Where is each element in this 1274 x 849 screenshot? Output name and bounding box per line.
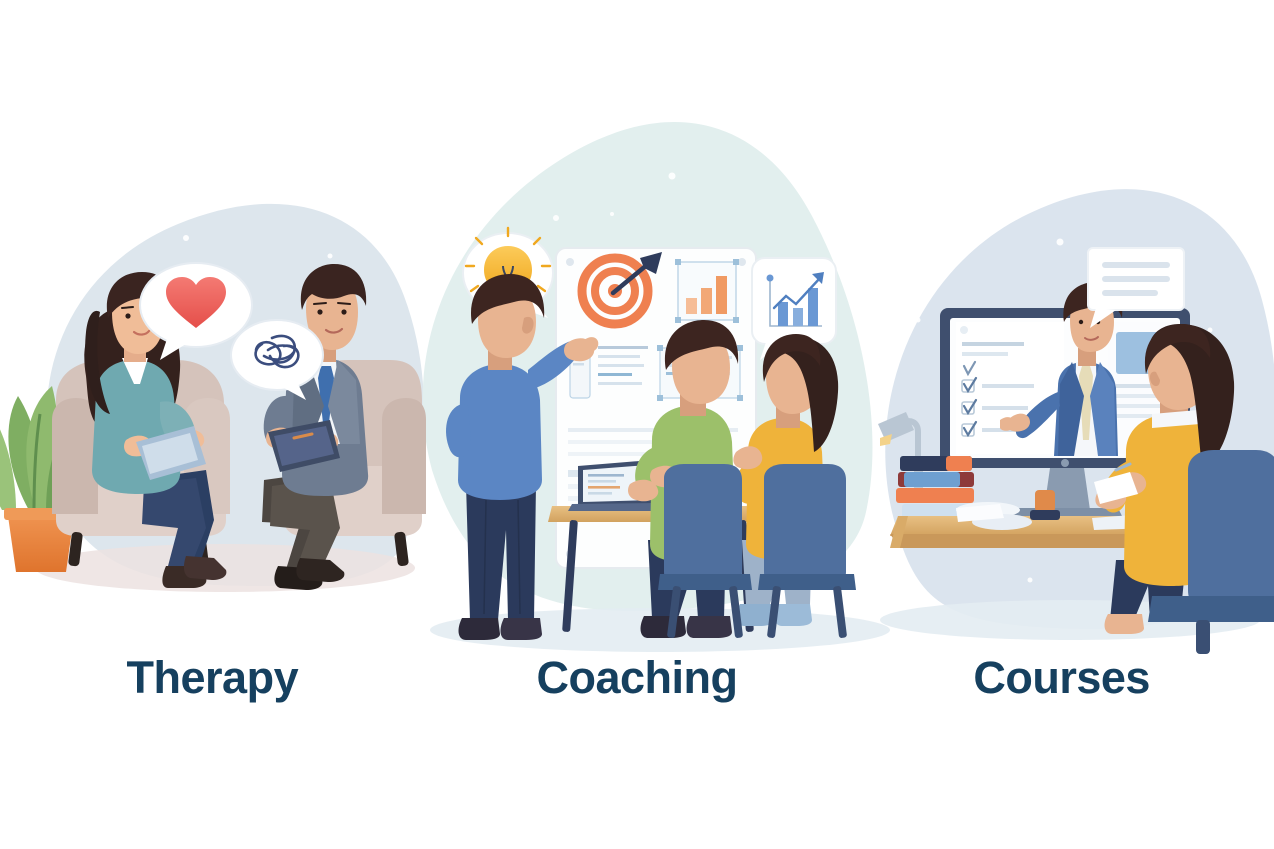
attendee-shoe-2: [687, 616, 732, 638]
instructor-eye: [1079, 320, 1083, 324]
bar: [701, 288, 712, 314]
office-chair-post: [1196, 620, 1210, 654]
laptop-base: [568, 503, 664, 511]
student-shoe: [1105, 614, 1144, 634]
bar: [716, 276, 727, 314]
monitor-button: [1061, 459, 1069, 467]
bubble-text-line: [1102, 262, 1170, 268]
coach-leg: [466, 484, 536, 620]
armchair-arm-left: [52, 398, 98, 514]
woman-eye: [125, 313, 130, 318]
man-brow: [338, 303, 350, 304]
chair-back: [764, 464, 846, 584]
bar: [808, 288, 818, 326]
scene-coaching: [430, 228, 890, 652]
cup: [1035, 490, 1055, 512]
chair-seat: [658, 574, 752, 590]
woman-brow: [122, 307, 133, 308]
armchair-arm-right: [382, 398, 426, 514]
bubble-text-line: [1102, 290, 1158, 296]
screen-checklist: [956, 322, 1064, 454]
chair-back: [664, 464, 742, 584]
coach-shoe-2: [501, 618, 542, 640]
attendee-w-shoe-2: [775, 604, 812, 626]
attendee-w-shoe: [737, 604, 774, 626]
bubble-text-line: [1102, 276, 1170, 282]
man-brow: [314, 303, 326, 304]
bar: [793, 308, 803, 326]
board-pin: [738, 258, 746, 266]
illustration-canvas: Therapy Coaching Courses: [0, 0, 1274, 849]
bar: [778, 302, 788, 326]
office-chair-back: [1188, 450, 1274, 608]
man-eye: [317, 309, 322, 314]
coach-shoe: [459, 618, 500, 640]
attendee-shoe: [641, 616, 686, 638]
chair-seat: [758, 574, 856, 590]
bar: [686, 298, 697, 314]
bar-chart-orange: [675, 259, 739, 323]
office-chair-seat: [1148, 596, 1274, 622]
board-pin: [566, 258, 574, 266]
floor-shadow-therapy: [35, 544, 415, 592]
illustration-artwork: [0, 0, 1274, 849]
cup-base: [1030, 510, 1060, 520]
man-eye: [341, 309, 346, 314]
